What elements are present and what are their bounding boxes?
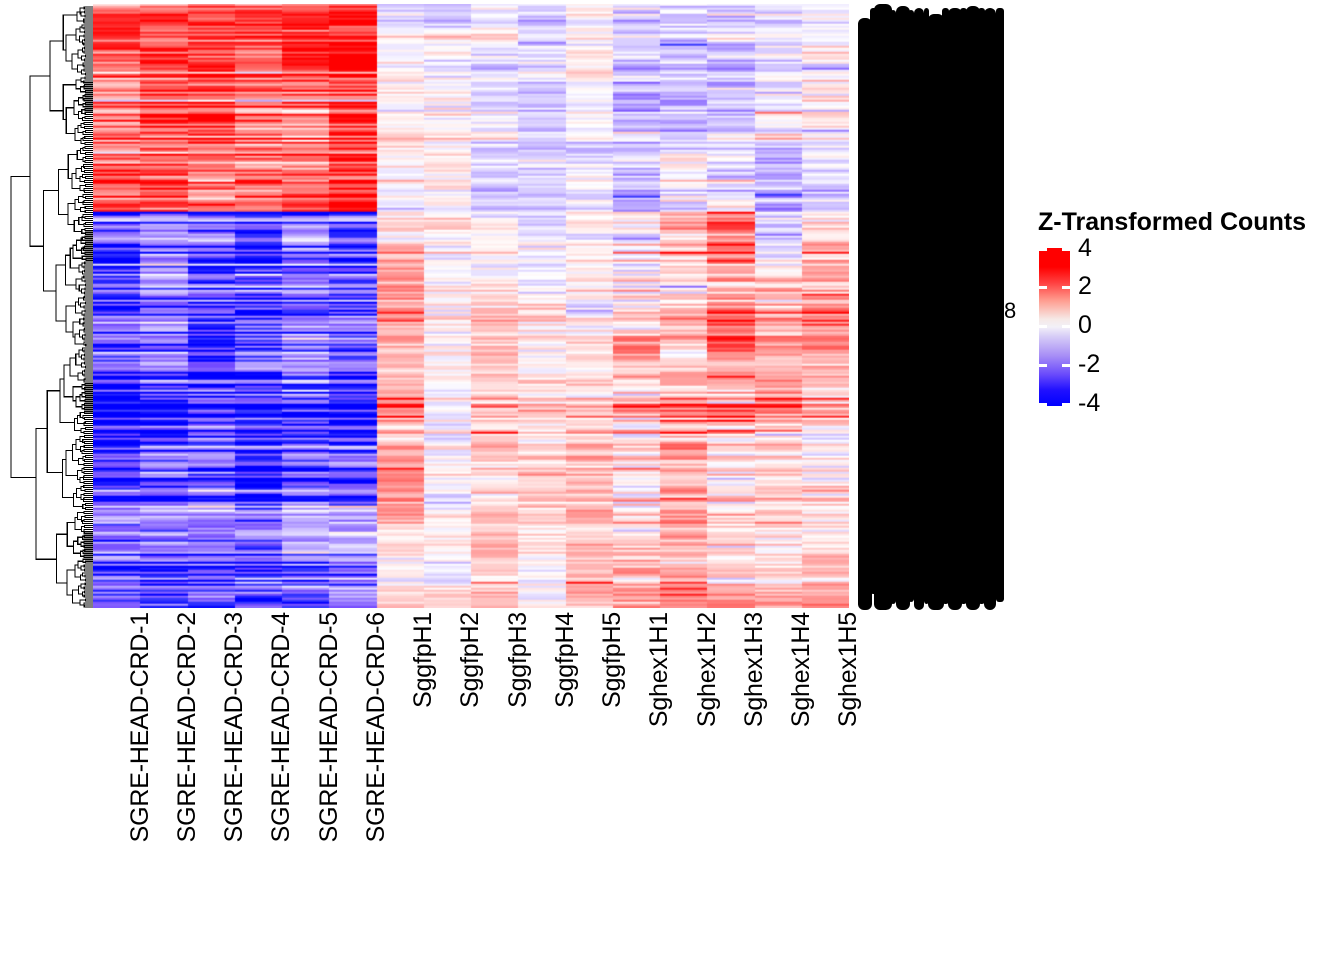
colorbar-label-neg4: -4 <box>1078 391 1100 416</box>
colorbar-tick-right-neg2 <box>1062 364 1070 367</box>
row-dendrogram <box>8 4 94 610</box>
column-label-sgre-head-crd-2: SGRE-HEAD-CRD-2 <box>173 612 202 842</box>
colorbar-tick-left-0 <box>1039 325 1047 328</box>
colorbar-tick-right-0 <box>1062 325 1070 328</box>
column-label-sgre-head-crd-6: SGRE-HEAD-CRD-6 <box>362 612 391 842</box>
row-axis-labels: 8 <box>856 2 1008 612</box>
colorbar-label-0: 0 <box>1078 313 1092 338</box>
column-label-sgre-head-crd-1: SGRE-HEAD-CRD-1 <box>126 612 155 842</box>
column-label-sgre-head-crd-3: SGRE-HEAD-CRD-3 <box>220 612 249 842</box>
row-label-fragment: 8 <box>1004 298 1016 324</box>
heatmap-matrix[interactable] <box>93 4 849 608</box>
heatmap-canvas[interactable] <box>93 4 849 608</box>
column-label-sggfph5: SggfpH5 <box>598 612 627 708</box>
colorbar-tick-right-2 <box>1062 286 1070 289</box>
column-label-sggfph2: SggfpH2 <box>456 612 485 708</box>
column-label-sggfph4: SggfpH4 <box>551 612 580 708</box>
heatmap-figure: SGRE-HEAD-CRD-1SGRE-HEAD-CRD-2SGRE-HEAD-… <box>0 0 1344 960</box>
colorbar-label-4: 4 <box>1078 236 1092 261</box>
colorbar-tick-left-neg4 <box>1039 403 1047 406</box>
column-label-sggfph1: SggfpH1 <box>409 612 438 708</box>
colorbar-tick-right-4 <box>1062 248 1070 251</box>
column-label-sghex1h3: Sghex1H3 <box>740 612 769 727</box>
column-axis-labels: SGRE-HEAD-CRD-1SGRE-HEAD-CRD-2SGRE-HEAD-… <box>93 612 849 942</box>
colorbar-tick-left-4 <box>1039 248 1047 251</box>
colorbar-tick-left-2 <box>1039 286 1047 289</box>
column-label-sgre-head-crd-5: SGRE-HEAD-CRD-5 <box>315 612 344 842</box>
colorbar-label-neg2: -2 <box>1078 352 1100 377</box>
column-label-sghex1h4: Sghex1H4 <box>787 612 816 727</box>
column-label-sghex1h1: Sghex1H1 <box>645 612 674 727</box>
legend: Z-Transformed Counts 4 2 0 -2 -4 <box>1036 208 1336 418</box>
column-label-sghex1h5: Sghex1H5 <box>834 612 863 727</box>
column-label-sgre-head-crd-4: SGRE-HEAD-CRD-4 <box>267 612 296 842</box>
legend-title: Z-Transformed Counts <box>1038 208 1306 237</box>
column-label-sghex1h2: Sghex1H2 <box>693 612 722 727</box>
column-label-sggfph3: SggfpH3 <box>504 612 533 708</box>
colorbar <box>1039 248 1070 406</box>
colorbar-label-2: 2 <box>1078 274 1092 299</box>
colorbar-tick-right-neg4 <box>1062 403 1070 406</box>
colorbar-tick-left-neg2 <box>1039 364 1047 367</box>
